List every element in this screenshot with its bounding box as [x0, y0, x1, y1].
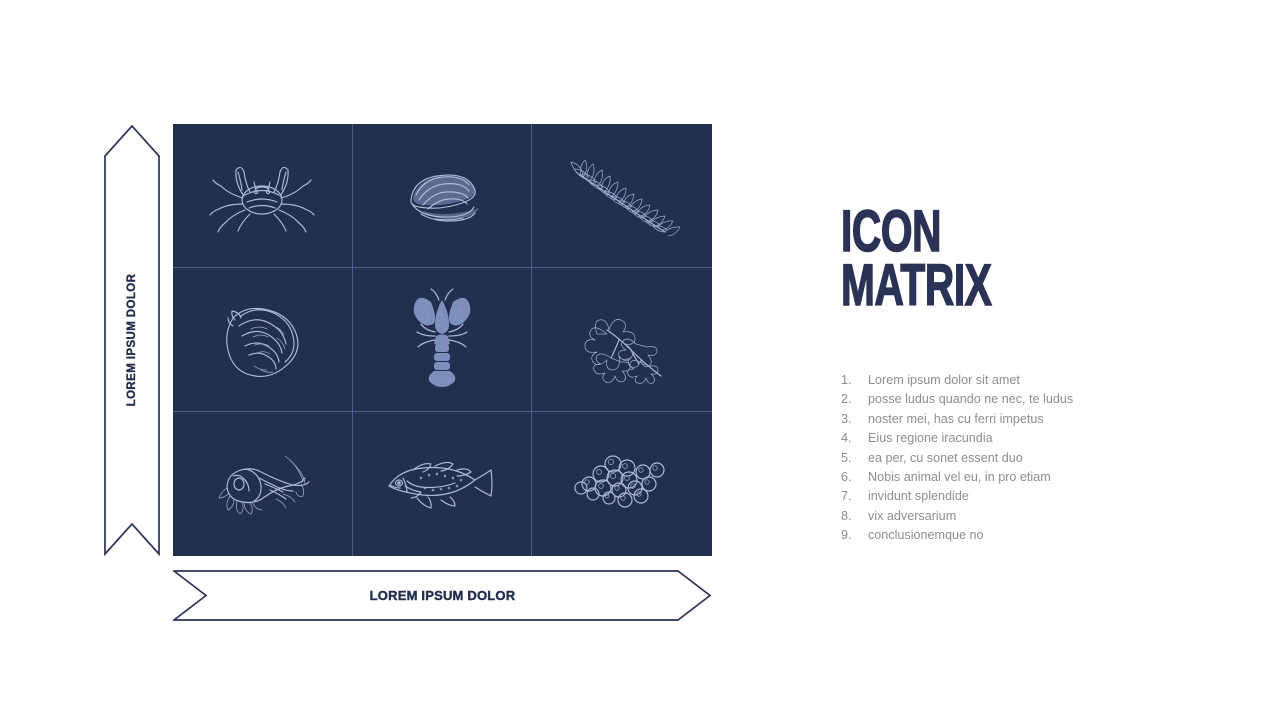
list-item-label: Eius regione iracundia: [868, 429, 1241, 448]
icon-matrix-grid: [173, 124, 712, 556]
list-item-index: 1.: [841, 371, 868, 390]
list-item-index: 3.: [841, 410, 868, 429]
slide-canvas: LOREM IPSUM DOLOR: [0, 0, 1280, 720]
list-item-index: 2.: [841, 390, 868, 409]
list-item-label: conclusionemque no: [868, 526, 1241, 545]
oyster-icon: [197, 284, 327, 396]
list-item: 4. Eius regione iracundia: [841, 429, 1241, 448]
list-item-label: noster mei, has cu ferri impetus: [868, 410, 1241, 429]
mussel-icon: [377, 140, 507, 252]
list-item: 3. noster mei, has cu ferri impetus: [841, 410, 1241, 429]
rosemary-icon: [557, 140, 687, 252]
list-item-index: 6.: [841, 468, 868, 487]
matrix-cell-caviar[interactable]: [532, 412, 712, 556]
list-item-label: Lorem ipsum dolor sit amet: [868, 371, 1241, 390]
list-item-label: invidunt splendide: [868, 487, 1241, 506]
vertical-axis-banner: LOREM IPSUM DOLOR: [104, 122, 160, 558]
list-item-label: vix adversarium: [868, 507, 1241, 526]
crab-icon: [197, 140, 327, 252]
list-item-index: 4.: [841, 429, 868, 448]
horizontal-axis-banner: LOREM IPSUM DOLOR: [173, 570, 712, 621]
list-item: 8. vix adversarium: [841, 507, 1241, 526]
list-item-index: 7.: [841, 487, 868, 506]
list-item: 9. conclusionemque no: [841, 526, 1241, 545]
list-item-index: 5.: [841, 449, 868, 468]
list-item-label: Nobis animal vel eu, in pro etiam: [868, 468, 1241, 487]
matrix-cell-rosemary[interactable]: [532, 124, 712, 268]
fish-icon: [377, 428, 507, 540]
list-item: 2. posse ludus quando ne nec, te ludus: [841, 390, 1241, 409]
right-content-panel: ICON MATRIX 1. Lorem ipsum dolor sit ame…: [841, 205, 1241, 546]
list-item: 5. ea per, cu sonet essent duo: [841, 449, 1241, 468]
list-item: 6. Nobis animal vel eu, in pro etiam: [841, 468, 1241, 487]
matrix-cell-shrimp[interactable]: [173, 412, 353, 556]
matrix-cell-oyster[interactable]: [173, 268, 353, 412]
vertical-banner-label: LOREM IPSUM DOLOR: [126, 274, 138, 407]
list-item: 1. Lorem ipsum dolor sit amet: [841, 371, 1241, 390]
matrix-cell-mussel[interactable]: [353, 124, 533, 268]
list-item: 7. invidunt splendide: [841, 487, 1241, 506]
parsley-icon: [557, 284, 687, 396]
matrix-cell-parsley[interactable]: [532, 268, 712, 412]
list-item-label: posse ludus quando ne nec, te ludus: [868, 390, 1241, 409]
feature-list: 1. Lorem ipsum dolor sit amet 2. posse l…: [841, 371, 1241, 546]
matrix-cell-lobster[interactable]: [353, 268, 533, 412]
list-item-index: 9.: [841, 526, 868, 545]
matrix-cell-fish[interactable]: [353, 412, 533, 556]
page-title: ICON MATRIX: [841, 205, 1121, 313]
list-item-index: 8.: [841, 507, 868, 526]
list-item-label: ea per, cu sonet essent duo: [868, 449, 1241, 468]
lobster-icon: [377, 284, 507, 396]
horizontal-banner-label: LOREM IPSUM DOLOR: [173, 570, 712, 621]
shrimp-icon: [197, 428, 327, 540]
caviar-icon: [557, 428, 687, 540]
matrix-cell-crab[interactable]: [173, 124, 353, 268]
